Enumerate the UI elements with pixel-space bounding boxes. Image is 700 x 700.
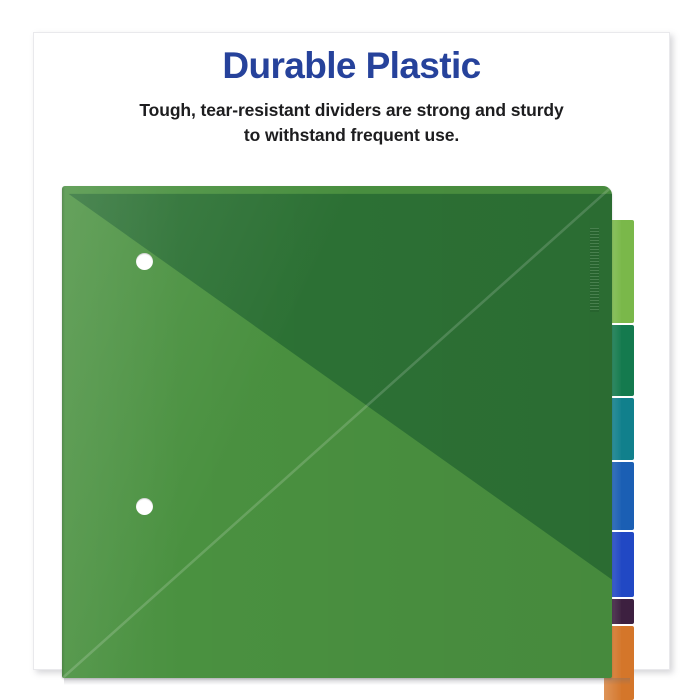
subtitle-line-2: to withstand frequent use. [72, 123, 632, 148]
pocket-divider [62, 186, 612, 678]
pocket-left-edge [62, 186, 65, 678]
bottom-punch-hole [136, 498, 153, 515]
product-photo [62, 186, 634, 680]
top-punch-hole [136, 253, 153, 270]
page-title: Durable Plastic [33, 46, 670, 86]
product-drop-shadow [64, 678, 630, 685]
subtitle: Tough, tear-resistant dividers are stron… [72, 98, 632, 148]
product-image-canvas: Durable Plastic Tough, tear-resistant di… [0, 0, 700, 700]
subtitle-line-1: Tough, tear-resistant dividers are stron… [72, 98, 632, 123]
headline-block: Durable Plastic Tough, tear-resistant di… [33, 46, 670, 148]
